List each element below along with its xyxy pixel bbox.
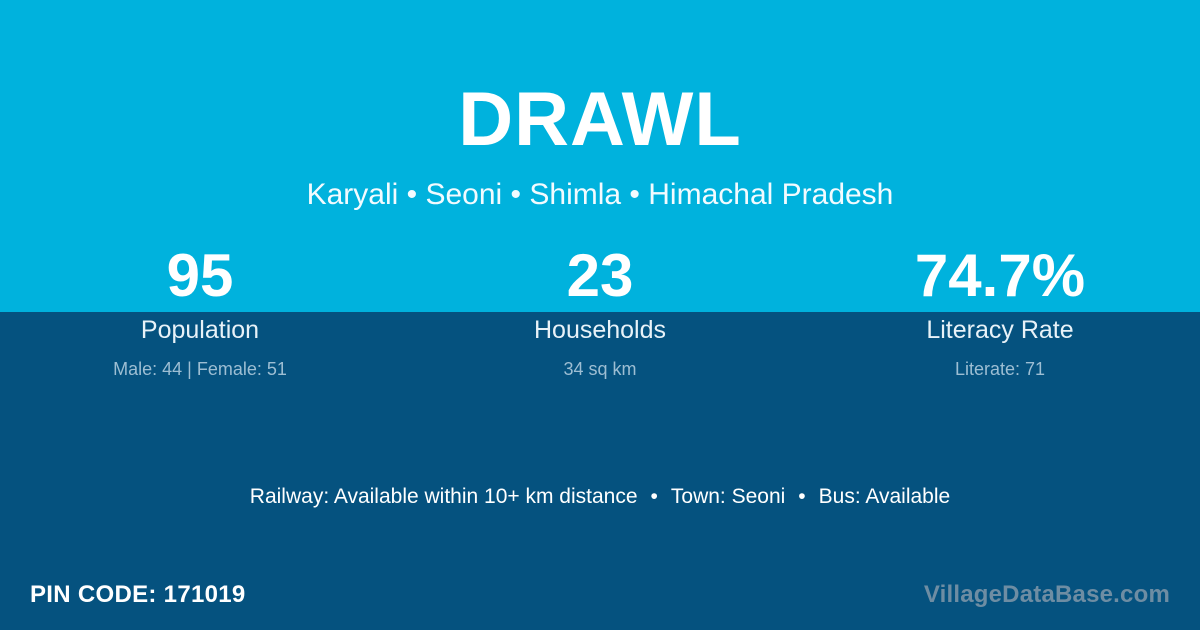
- stat-households-area: 34 sq km: [400, 343, 800, 378]
- stat-households-value: 23: [400, 240, 800, 312]
- stat-population-label: Population: [0, 312, 400, 343]
- stat-literacy-label: Literacy Rate: [800, 312, 1200, 343]
- location-breadcrumb: Karyali • Seoni • Shimla • Himachal Prad…: [0, 158, 1200, 210]
- amenity-town: Town: Seoni: [671, 485, 785, 508]
- stat-households-label: Households: [400, 312, 800, 343]
- site-brand-watermark: VillageDataBase.com: [924, 583, 1170, 607]
- stat-population-breakdown: Male: 44 | Female: 51: [0, 343, 400, 378]
- amenities-line: Railway: Available within 10+ km distanc…: [0, 486, 1200, 507]
- pin-code-label: PIN CODE: 171019: [30, 583, 246, 607]
- stat-households: 23 Households 34 sq km: [400, 240, 800, 378]
- stat-literacy-value: 74.7%: [800, 240, 1200, 312]
- statistics-row: 95 Population Male: 44 | Female: 51 23 H…: [0, 240, 1200, 378]
- village-info-card: DRAWL Karyali • Seoni • Shimla • Himacha…: [0, 0, 1200, 630]
- amenity-bus: Bus: Available: [819, 485, 951, 508]
- stat-population-value: 95: [0, 240, 400, 312]
- village-name-title: DRAWL: [0, 0, 1200, 158]
- amenity-separator-1: •: [638, 486, 671, 507]
- amenity-railway: Railway: Available within 10+ km distanc…: [250, 485, 638, 508]
- stat-literacy: 74.7% Literacy Rate Literate: 71: [800, 240, 1200, 378]
- amenity-separator-2: •: [785, 486, 818, 507]
- stat-literacy-count: Literate: 71: [800, 343, 1200, 378]
- card-header: DRAWL Karyali • Seoni • Shimla • Himacha…: [0, 0, 1200, 210]
- card-footer: PIN CODE: 171019 VillageDataBase.com: [0, 560, 1200, 630]
- stat-population: 95 Population Male: 44 | Female: 51: [0, 240, 400, 378]
